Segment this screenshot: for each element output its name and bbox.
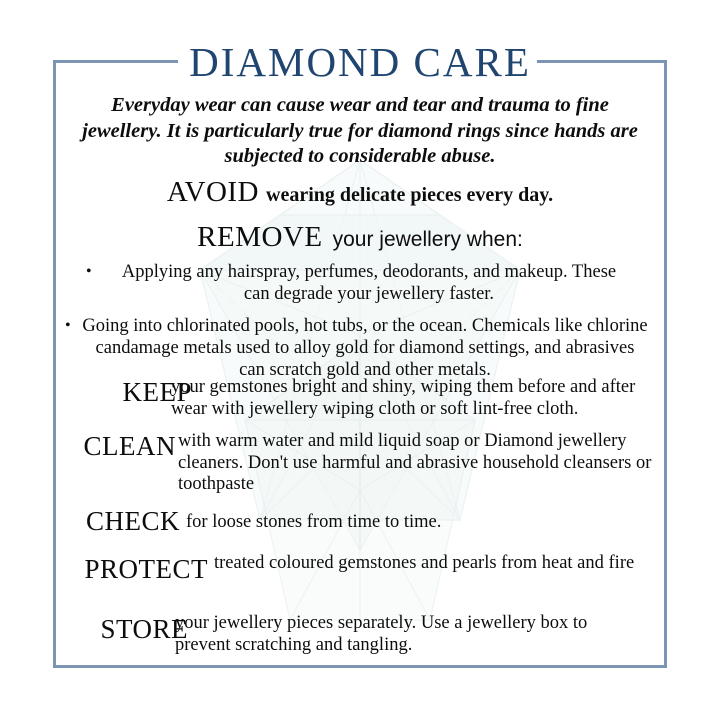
section-keyword: STORE xyxy=(60,616,188,643)
bullet-marker: • xyxy=(86,261,92,283)
page-title: DIAMOND CARE xyxy=(56,38,664,86)
section-body: your jewellery pieces separately. Use a … xyxy=(175,613,645,656)
diamond-care-poster: DIAMOND CARE Everyday wear can cause wea… xyxy=(0,0,720,720)
avoid-line: AVOIDwearing delicate pieces every day. xyxy=(56,176,664,209)
frame-right-edge xyxy=(664,60,667,668)
avoid-body: wearing delicate pieces every day. xyxy=(259,184,553,206)
section-body: for loose stones from time to time. xyxy=(186,512,656,534)
remove-body: your jewellery when: xyxy=(323,228,523,251)
bullet-marker: • xyxy=(65,315,71,337)
section-keyword: CHECK xyxy=(52,508,180,535)
section-body: with warm water and mild liquid soap or … xyxy=(178,431,660,496)
list-item-text: Applying any hairspray, perfumes, deodor… xyxy=(122,262,616,304)
section-keyword: PROTECT xyxy=(56,556,208,583)
section-body: treated coloured gemstones and pearls fr… xyxy=(214,553,654,575)
intro-paragraph: Everyday wear can cause wear and tear an… xyxy=(74,93,646,170)
poster-content: DIAMOND CARE Everyday wear can cause wea… xyxy=(56,63,664,665)
remove-bullet-list: •Applying any hairspray, perfumes, deodo… xyxy=(56,261,664,381)
list-item-text: Going into chlorinated pools, hot tubs, … xyxy=(82,316,647,380)
list-item: •Applying any hairspray, perfumes, deodo… xyxy=(56,261,664,305)
remove-line: REMOVEyour jewellery when: xyxy=(56,221,664,254)
list-item: •Going into chlorinated pools, hot tubs,… xyxy=(56,315,664,381)
section-keyword: CLEAN xyxy=(48,433,176,460)
remove-keyword: REMOVE xyxy=(197,221,322,253)
section-body: your gemstones bright and shiny, wiping … xyxy=(171,377,658,420)
avoid-keyword: AVOID xyxy=(167,176,259,208)
frame-bottom-edge xyxy=(53,665,667,668)
